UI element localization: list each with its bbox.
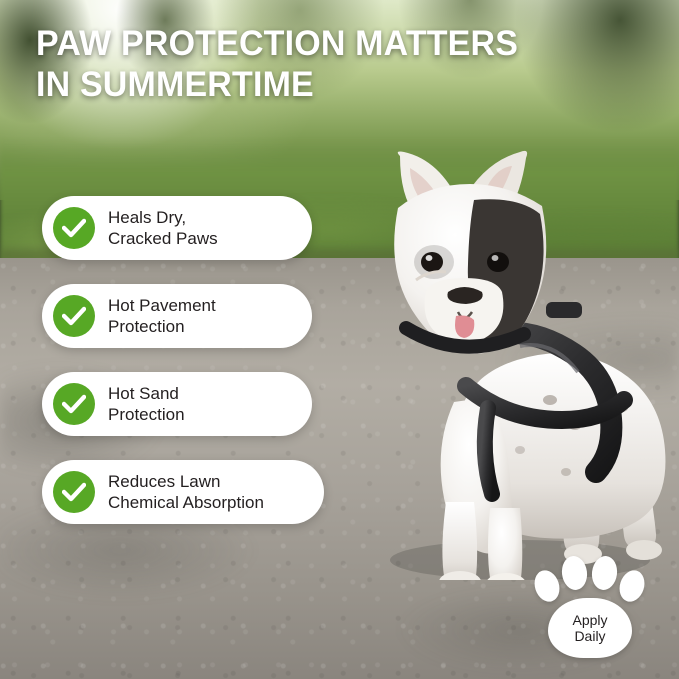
paw-label-line-1: Apply: [572, 612, 607, 628]
benefit-line-2: Protection: [108, 405, 185, 424]
dog-head: [394, 151, 546, 354]
french-bulldog-photo: [370, 150, 679, 580]
paw-toe: [560, 555, 589, 592]
benefits-list: Heals Dry, Cracked Paws Hot Pavement Pro…: [42, 196, 332, 548]
benefit-item-hot-sand-protection: Hot Sand Protection: [42, 372, 312, 436]
benefit-line-1: Hot Pavement: [108, 296, 216, 315]
checkmark-icon: [53, 383, 95, 425]
benefit-line-1: Hot Sand: [108, 384, 179, 403]
paw-label-line-2: Daily: [574, 628, 605, 644]
benefit-label: Hot Sand Protection: [108, 383, 195, 426]
benefit-line-1: Heals Dry,: [108, 208, 186, 227]
paw-toe: [616, 567, 649, 605]
product-lifestyle-image: PAW PROTECTION MATTERS IN SUMMERTIME Hea…: [0, 0, 679, 679]
checkmark-icon: [53, 207, 95, 249]
page-title: PAW PROTECTION MATTERS IN SUMMERTIME: [36, 24, 579, 106]
benefit-line-1: Reduces Lawn: [108, 472, 220, 491]
benefit-item-heals-dry-cracked-paws: Heals Dry, Cracked Paws: [42, 196, 312, 260]
dog-illustration: [370, 150, 679, 580]
benefit-line-2: Protection: [108, 317, 185, 336]
benefit-label: Reduces Lawn Chemical Absorption: [108, 471, 274, 514]
paw-pad-label: Apply Daily: [548, 598, 632, 658]
benefit-item-hot-pavement-protection: Hot Pavement Protection: [42, 284, 312, 348]
benefit-label: Hot Pavement Protection: [108, 295, 226, 338]
checkmark-icon: [53, 471, 95, 513]
benefit-line-2: Chemical Absorption: [108, 493, 264, 512]
headline-line-2: IN SUMMERTIME: [36, 65, 579, 106]
headline-line-1: PAW PROTECTION MATTERS: [36, 24, 579, 65]
paw-toe: [531, 567, 564, 605]
benefit-label: Heals Dry, Cracked Paws: [108, 207, 228, 250]
benefit-item-reduces-lawn-chemical-absorption: Reduces Lawn Chemical Absorption: [42, 460, 324, 524]
paw-toe: [590, 555, 619, 592]
checkmark-icon: [53, 295, 95, 337]
paw-print-icon: Apply Daily: [530, 548, 650, 658]
benefit-line-2: Cracked Paws: [108, 229, 218, 248]
